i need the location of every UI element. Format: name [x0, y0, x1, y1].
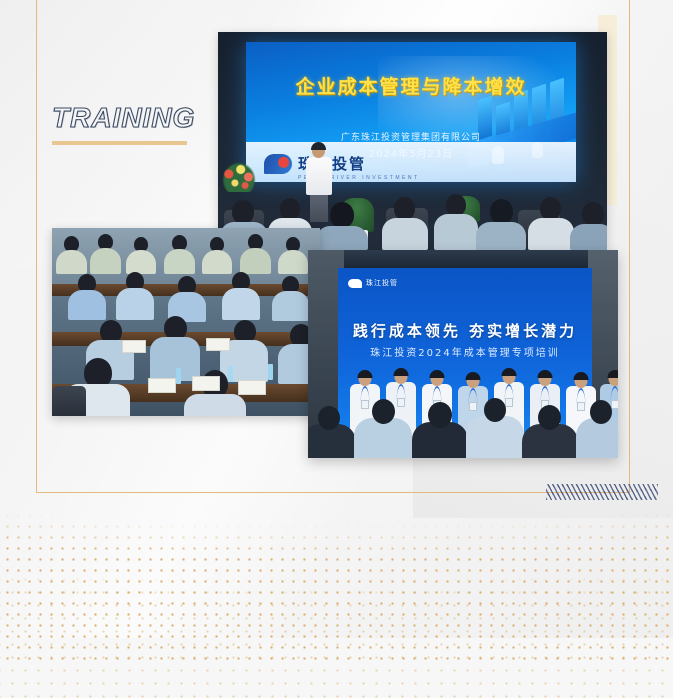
foreground-person-head: [428, 402, 452, 428]
audience-shoulders: [570, 224, 607, 250]
section-label: TRAINING: [52, 104, 222, 145]
water-bottle: [228, 366, 233, 382]
audience-shoulders: [68, 290, 106, 320]
group-photo: 珠江投管 践行成本领先 夯实增长潜力 珠江投资2024年成本管理专项培训: [308, 250, 618, 458]
recipient-badge: [397, 398, 405, 407]
audience-shoulders: [272, 291, 309, 321]
recipient-hair: [466, 372, 481, 380]
pearl-river-logo-icon: [264, 154, 292, 174]
lecture-slide-title: 企业成本管理与降本增效: [246, 72, 576, 99]
audience-head: [330, 202, 354, 228]
name-card: [122, 340, 146, 353]
lecture-photo: 企业成本管理与降本增效 广东珠江投资管理集团有限公司 2024年5月23日 珠江…: [218, 32, 607, 250]
recipient-badge: [361, 400, 369, 409]
section-label-underline: [52, 141, 187, 145]
audience-shoulders: [434, 214, 478, 250]
audience-shoulders: [116, 288, 154, 320]
pearl-river-logo-icon: [348, 279, 362, 288]
audience-shoulders: [222, 288, 260, 320]
audience-shoulders: [150, 337, 200, 381]
lecture-slide-brand-band: 珠江投管 PEARL RIVER INVESTMENT: [246, 142, 576, 182]
audience-head: [490, 199, 513, 224]
audience-head: [540, 197, 561, 220]
audience-shoulders: [382, 218, 428, 250]
audience-shoulders: [528, 218, 574, 250]
foreground-person-head: [590, 400, 612, 424]
recipient-hair: [574, 372, 589, 380]
name-card: [192, 376, 220, 391]
audience-shoulders: [278, 250, 308, 274]
group-screen-headline: 践行成本领先 夯实增长潜力: [338, 320, 592, 341]
group-foreground-audience: [308, 410, 618, 458]
group-screen-logo-text: 珠江投管: [366, 278, 398, 288]
foreground-person-head: [538, 405, 561, 430]
seated-audience-photo: [52, 228, 320, 416]
recipient-badge: [505, 398, 513, 407]
foreground-person-head: [372, 399, 395, 424]
recipient-hair: [430, 370, 445, 378]
recipient-badge: [611, 400, 618, 409]
section-label-text: TRAINING: [52, 104, 222, 132]
audience-head: [394, 197, 415, 220]
audience-shoulders: [476, 222, 526, 250]
audience-shoulders: [56, 250, 87, 274]
water-bottle: [176, 368, 181, 384]
foreground-person: [466, 416, 524, 458]
name-card: [206, 338, 230, 351]
audience-shoulders: [240, 248, 271, 274]
audience-shoulders: [184, 394, 246, 416]
audience-shoulders: [126, 250, 156, 274]
audience-head: [446, 194, 466, 216]
name-card: [148, 378, 176, 393]
recipient-hair: [538, 370, 553, 378]
recipient-hair: [358, 370, 373, 378]
audience-head: [232, 200, 254, 224]
audience-head: [280, 198, 300, 220]
audience-shoulders: [316, 226, 368, 250]
halftone-dots-front: [0, 466, 673, 666]
recipient-hair: [394, 368, 409, 376]
recipient-hair: [608, 370, 619, 378]
group-room-ceiling: [308, 250, 618, 268]
chair-back: [52, 386, 86, 416]
lecture-led-screen: 企业成本管理与降本增效 广东珠江投资管理集团有限公司 2024年5月23日 珠江…: [246, 42, 576, 182]
group-screen-logo: 珠江投管: [348, 278, 398, 288]
recipient-hair: [502, 368, 517, 376]
audience-shoulders: [164, 249, 195, 274]
foreground-person-head: [318, 406, 340, 430]
audience-shoulders: [202, 250, 232, 274]
foreground-person-head: [484, 398, 506, 422]
foreground-person: [576, 418, 618, 458]
audience-shoulders: [90, 248, 121, 274]
water-bottle: [268, 364, 273, 380]
name-card: [238, 380, 266, 395]
speaker-hair: [311, 142, 326, 150]
foreground-person: [354, 418, 412, 458]
audience-head: [582, 202, 604, 226]
